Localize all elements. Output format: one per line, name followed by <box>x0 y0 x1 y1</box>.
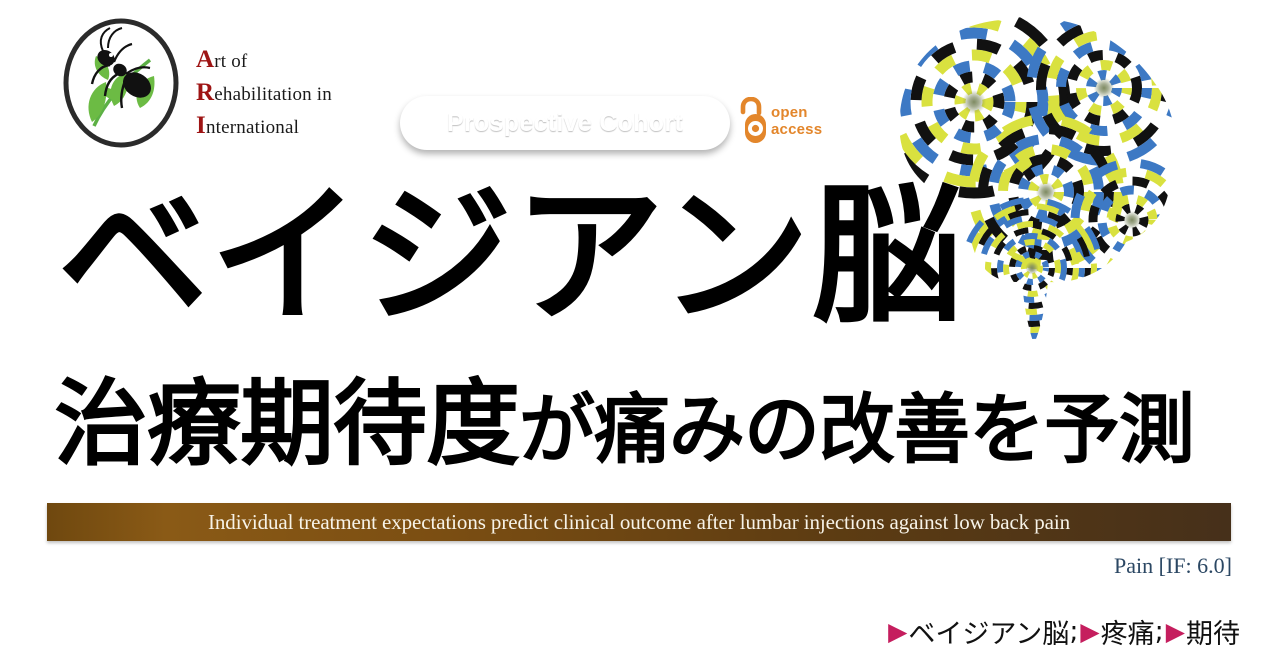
ari-cap-a: A <box>196 46 214 73</box>
english-title-banner: Individual treatment expectations predic… <box>47 503 1231 541</box>
ari-wordmark: Art of Rehabilitation in International <box>196 44 386 143</box>
ari-cap-r: R <box>196 79 214 106</box>
open-access-mark: open access <box>738 97 822 145</box>
journal-citation: Pain [IF: 6.0] <box>1114 553 1232 579</box>
english-title-text: Individual treatment expectations predic… <box>208 510 1070 535</box>
triangle-marker-icon: ▶ <box>1166 619 1185 644</box>
open-padlock-icon <box>738 97 766 145</box>
ant-on-leaf-circle-logo <box>62 18 180 148</box>
ari-line-3: International <box>196 110 386 143</box>
page-title-sub: 治療期待度が痛みの改善を予測 <box>54 378 1194 472</box>
ari-cap-i: I <box>196 112 206 139</box>
triangle-marker-icon: ▶ <box>888 619 907 644</box>
keyword-list: ▶ベイジアン脳; ▶疼痛; ▶期待 <box>888 612 1240 651</box>
open-access-line-1: open <box>771 104 822 121</box>
list-item: ▶ベイジアン脳; <box>888 612 1080 651</box>
keyword-separator: ; <box>1069 616 1078 647</box>
keyword-label: 疼痛 <box>1101 612 1155 651</box>
open-access-line-2: access <box>771 121 822 138</box>
list-item: ▶期待 <box>1166 612 1240 651</box>
ari-rest-3: nternational <box>206 117 299 138</box>
open-access-words: open access <box>771 104 822 138</box>
keyword-separator: ; <box>1155 616 1164 647</box>
list-item: ▶疼痛; <box>1080 612 1165 651</box>
poster-canvas: Art of Rehabilitation in International P… <box>0 0 1280 669</box>
keyword-label: ベイジアン脳 <box>908 612 1069 651</box>
study-type-badge: Prospective Cohort <box>400 96 730 150</box>
page-title-sub-emphasis: 治療期待度 <box>54 370 519 479</box>
page-title-sub-rest: が痛みの改善を予測 <box>519 385 1194 474</box>
ari-rest-1: rt of <box>214 51 247 72</box>
keyword-label: 期待 <box>1186 612 1240 651</box>
ari-rest-2: ehabilitation in <box>214 84 332 105</box>
page-title-main: ベイジアン脳 <box>58 182 964 332</box>
ari-line-1: Art of <box>196 44 386 77</box>
study-type-label: Prospective Cohort <box>447 109 683 138</box>
triangle-marker-icon: ▶ <box>1080 619 1099 644</box>
ari-line-2: Rehabilitation in <box>196 77 386 110</box>
